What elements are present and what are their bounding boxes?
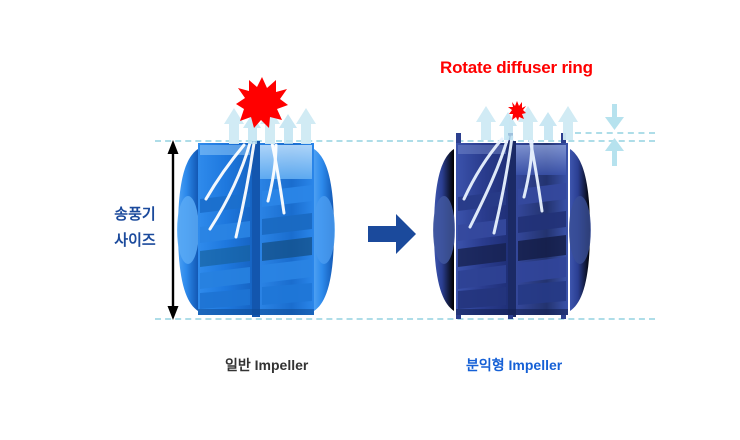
rotate-diffuser-ring-title: Rotate diffuser ring: [440, 58, 593, 78]
impeller-standard-illustration: [176, 141, 336, 319]
noise-burst-small-icon: [508, 101, 526, 121]
height-reduction-arrows: [600, 104, 630, 166]
airflow-arrows-split-blade: [472, 104, 582, 140]
impeller-split-blade-illustration: [432, 133, 592, 319]
fan-size-label-line2: 사이즈: [95, 228, 175, 254]
caption-standard-impeller: 일반 Impeller: [225, 355, 308, 375]
caption-split-blade-impeller: 분익형 Impeller: [466, 355, 562, 375]
transition-arrow-icon: [368, 212, 416, 256]
fan-size-label-line1: 송풍기: [95, 202, 175, 228]
fan-size-label: 송풍기 사이즈: [95, 202, 175, 254]
diagram-canvas: Rotate diffuser ring 송풍기 사이즈: [0, 0, 740, 440]
noise-burst-large-icon: [236, 76, 288, 128]
